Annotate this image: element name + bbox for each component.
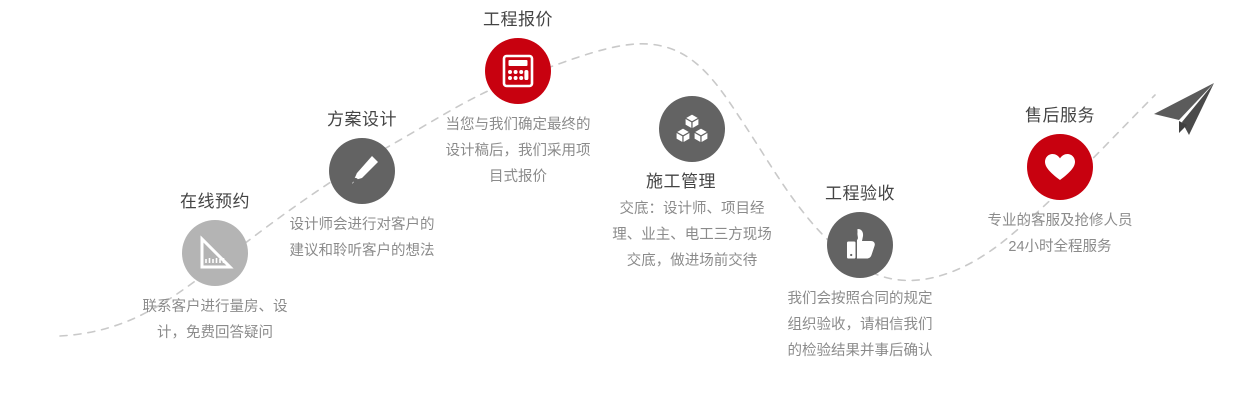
step-6-after-sales-service[interactable]: 售后服务 专业的客服及抢修人员24小时全程服务 xyxy=(960,104,1160,260)
calculator-icon xyxy=(498,51,538,91)
step-6-icon-circle[interactable] xyxy=(1027,134,1093,200)
step-3-description: 当您与我们确定最终的设计稿后，我们采用项目式报价 xyxy=(443,112,593,190)
step-2-icon-circle[interactable] xyxy=(329,138,395,204)
step-4-title: 施工管理 xyxy=(592,170,770,194)
step-1-icon-circle[interactable] xyxy=(182,220,248,286)
step-6-title: 售后服务 xyxy=(960,104,1160,128)
step-6-description: 专业的客服及抢修人员24小时全程服务 xyxy=(985,208,1135,260)
step-2-description: 设计师会进行对客户的建议和聆听客户的想法 xyxy=(287,212,437,264)
step-3-title: 工程报价 xyxy=(418,8,618,32)
step-4-icon-circle[interactable] xyxy=(659,96,725,162)
fountain-pen-icon xyxy=(342,151,382,191)
step-3-icon-circle[interactable] xyxy=(485,38,551,104)
thumbs-up-icon xyxy=(840,225,880,265)
step-5-icon-circle[interactable] xyxy=(827,212,893,278)
heart-icon xyxy=(1040,147,1080,187)
process-timeline-graphic: 在线预约 联系客户进行量房、设计，免费回答疑问 方案设计 设计师会进行对客户的 xyxy=(0,0,1245,402)
ruler-triangle-icon xyxy=(195,233,235,273)
step-5-title: 工程验收 xyxy=(760,182,960,206)
step-5-description: 我们会按照合同的规定组织验收，请相信我们的检验结果并事后确认 xyxy=(785,286,935,364)
step-3-project-quotation[interactable]: 工程报价 当您与我们确定最终的设计稿后，我们采用项目式报价 xyxy=(418,8,618,190)
boxes-cubes-icon xyxy=(671,108,713,150)
step-4-description: 交底：设计师、项目经理、业主、电工三方现场交底，做进场前交待 xyxy=(606,196,778,274)
step-5-project-acceptance[interactable]: 工程验收 我们会按照合同的规定组织验收，请相信我们的检验结果并事后确认 xyxy=(760,182,960,364)
step-1-description: 联系客户进行量房、设计，免费回答疑问 xyxy=(140,294,290,346)
